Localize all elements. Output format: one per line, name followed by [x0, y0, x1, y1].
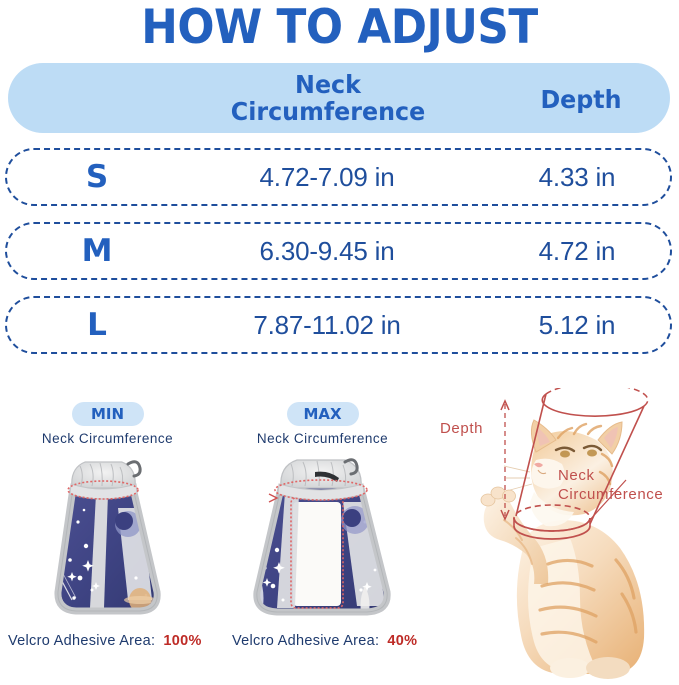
table-row: M 6.30-9.45 in 4.72 in [5, 222, 672, 280]
table-header-row: Neck Circumference Depth [8, 63, 670, 133]
annotation-neck-line2: Circumference [558, 485, 678, 504]
cone-photo-min [0, 450, 215, 630]
cell-neck-circumference: 6.30-9.45 in [167, 224, 487, 278]
cell-size: L [62, 298, 132, 352]
panel-min-sublabel: Neck Circumference [0, 431, 215, 446]
header-depth: Depth [493, 85, 670, 114]
annotation-neck-label: Neck Circumference [558, 466, 678, 504]
header-neck-line2: Circumference [157, 98, 499, 125]
table-row: S 4.72-7.09 in 4.33 in [5, 148, 672, 206]
badge-max: MAX [287, 402, 359, 426]
velcro-label-min: Velcro Adhesive Area: [8, 633, 155, 649]
table-row: L 7.87-11.02 in 5.12 in [5, 296, 672, 354]
cell-neck-circumference: 7.87-11.02 in [167, 298, 487, 352]
annotation-depth-label: Depth [440, 420, 483, 437]
cell-size: S [62, 150, 132, 204]
velcro-caption-max: Velcro Adhesive Area:40% [232, 633, 417, 655]
cone-max-illustration [215, 450, 430, 630]
annotation-neck-line1: Neck [558, 466, 678, 485]
panel-max-sublabel: Neck Circumference [215, 431, 430, 446]
velcro-value-min: 100% [163, 633, 201, 649]
cell-depth: 4.33 in [487, 150, 667, 204]
cell-size: M [62, 224, 132, 278]
velcro-value-max: 40% [387, 633, 417, 649]
cone-min-illustration [0, 450, 215, 630]
infographic-page: HOW TO ADJUST Neck Circumference Depth S… [0, 0, 679, 685]
velcro-caption-min: Velcro Adhesive Area:100% [8, 633, 202, 655]
header-neck-circumference: Neck Circumference [157, 71, 499, 125]
cell-depth: 4.72 in [487, 224, 667, 278]
cat-measurement-diagram: Depth Neck Circumference [430, 388, 679, 685]
header-neck-line1: Neck [157, 71, 499, 98]
cell-neck-circumference: 4.72-7.09 in [167, 150, 487, 204]
badge-min: MIN [72, 402, 144, 426]
cone-photo-max [215, 450, 430, 630]
cell-depth: 5.12 in [487, 298, 667, 352]
page-title: HOW TO ADJUST [24, 2, 655, 54]
velcro-label-max: Velcro Adhesive Area: [232, 633, 379, 649]
